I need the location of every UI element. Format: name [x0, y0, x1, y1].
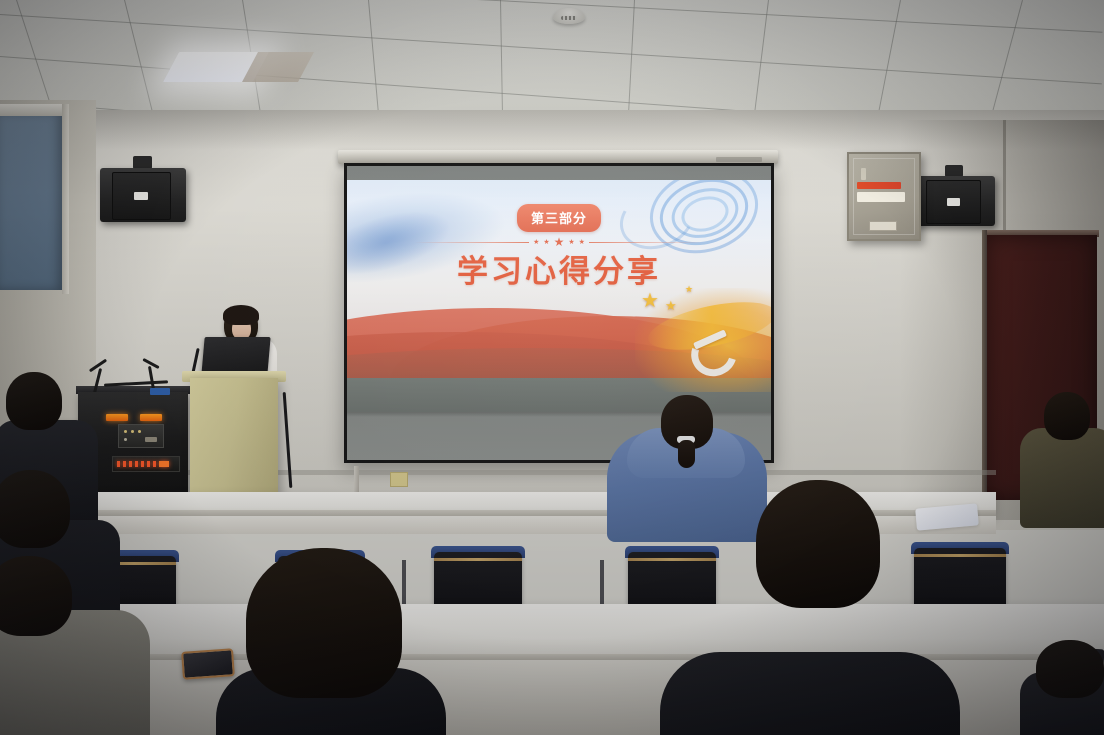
student-center-ponytail [678, 440, 695, 468]
divider-rule-right [589, 242, 704, 243]
student-chair[interactable] [914, 548, 1006, 612]
wall-conduit [354, 466, 359, 492]
divider-star-icon: ★ [579, 239, 585, 246]
panel-latch [861, 168, 866, 180]
wall-socket[interactable] [390, 472, 408, 487]
rack-brand-badge [150, 388, 170, 395]
slide-section-badge: 第三部分 [517, 204, 601, 232]
divider-star-icon: ★ [533, 239, 539, 246]
panel-nameplate [869, 221, 897, 231]
window-blind-headrail [0, 104, 66, 116]
presentation-slide: ★ ★ ★ 第三部分 ★ ★ ★ ★ ★ 学习心得分享 [347, 180, 771, 412]
chair-trim [434, 558, 522, 561]
presenter-laptop[interactable] [201, 337, 270, 375]
classroom-photo: ★ ★ ★ 第三部分 ★ ★ ★ ★ ★ 学习心得分享 [0, 0, 1104, 735]
panel-caution-label [857, 192, 905, 202]
presenter-hair [223, 305, 259, 325]
chair-trim [914, 554, 1006, 557]
divider-rule-left [414, 242, 529, 243]
smoke-detector-vent [561, 16, 577, 20]
panel-warning-label [857, 182, 901, 189]
rack-indicator-led [140, 414, 162, 421]
rack-led-strip [112, 456, 180, 472]
gold-star-icon: ★ [665, 298, 677, 314]
chair-back [914, 548, 1006, 612]
slide-title: 学习心得分享 [457, 246, 661, 291]
wall-speaker-left [100, 168, 186, 222]
divider-star-icon: ★ [568, 239, 574, 246]
smartphone-on-desk[interactable] [181, 648, 235, 680]
chair-trim [628, 558, 716, 561]
student-desk [0, 604, 1104, 660]
gold-star-icon: ★ [685, 284, 693, 295]
projection-screen-label [716, 157, 762, 162]
divider-star-icon: ★ [543, 239, 549, 246]
wall-speaker-right [915, 176, 995, 226]
window-blind[interactable] [0, 112, 62, 290]
gold-star-icon: ★ [641, 288, 659, 313]
projection-screen-housing [338, 150, 778, 164]
electrical-panel-box[interactable] [847, 152, 921, 241]
rack-indicator-led [106, 414, 128, 421]
speaker-logo [134, 192, 148, 201]
lectern [190, 378, 278, 496]
rack-control-panel[interactable] [118, 424, 164, 448]
speaker-logo [947, 198, 960, 206]
window-frame [62, 104, 69, 294]
party-emblem-icon [683, 326, 739, 370]
